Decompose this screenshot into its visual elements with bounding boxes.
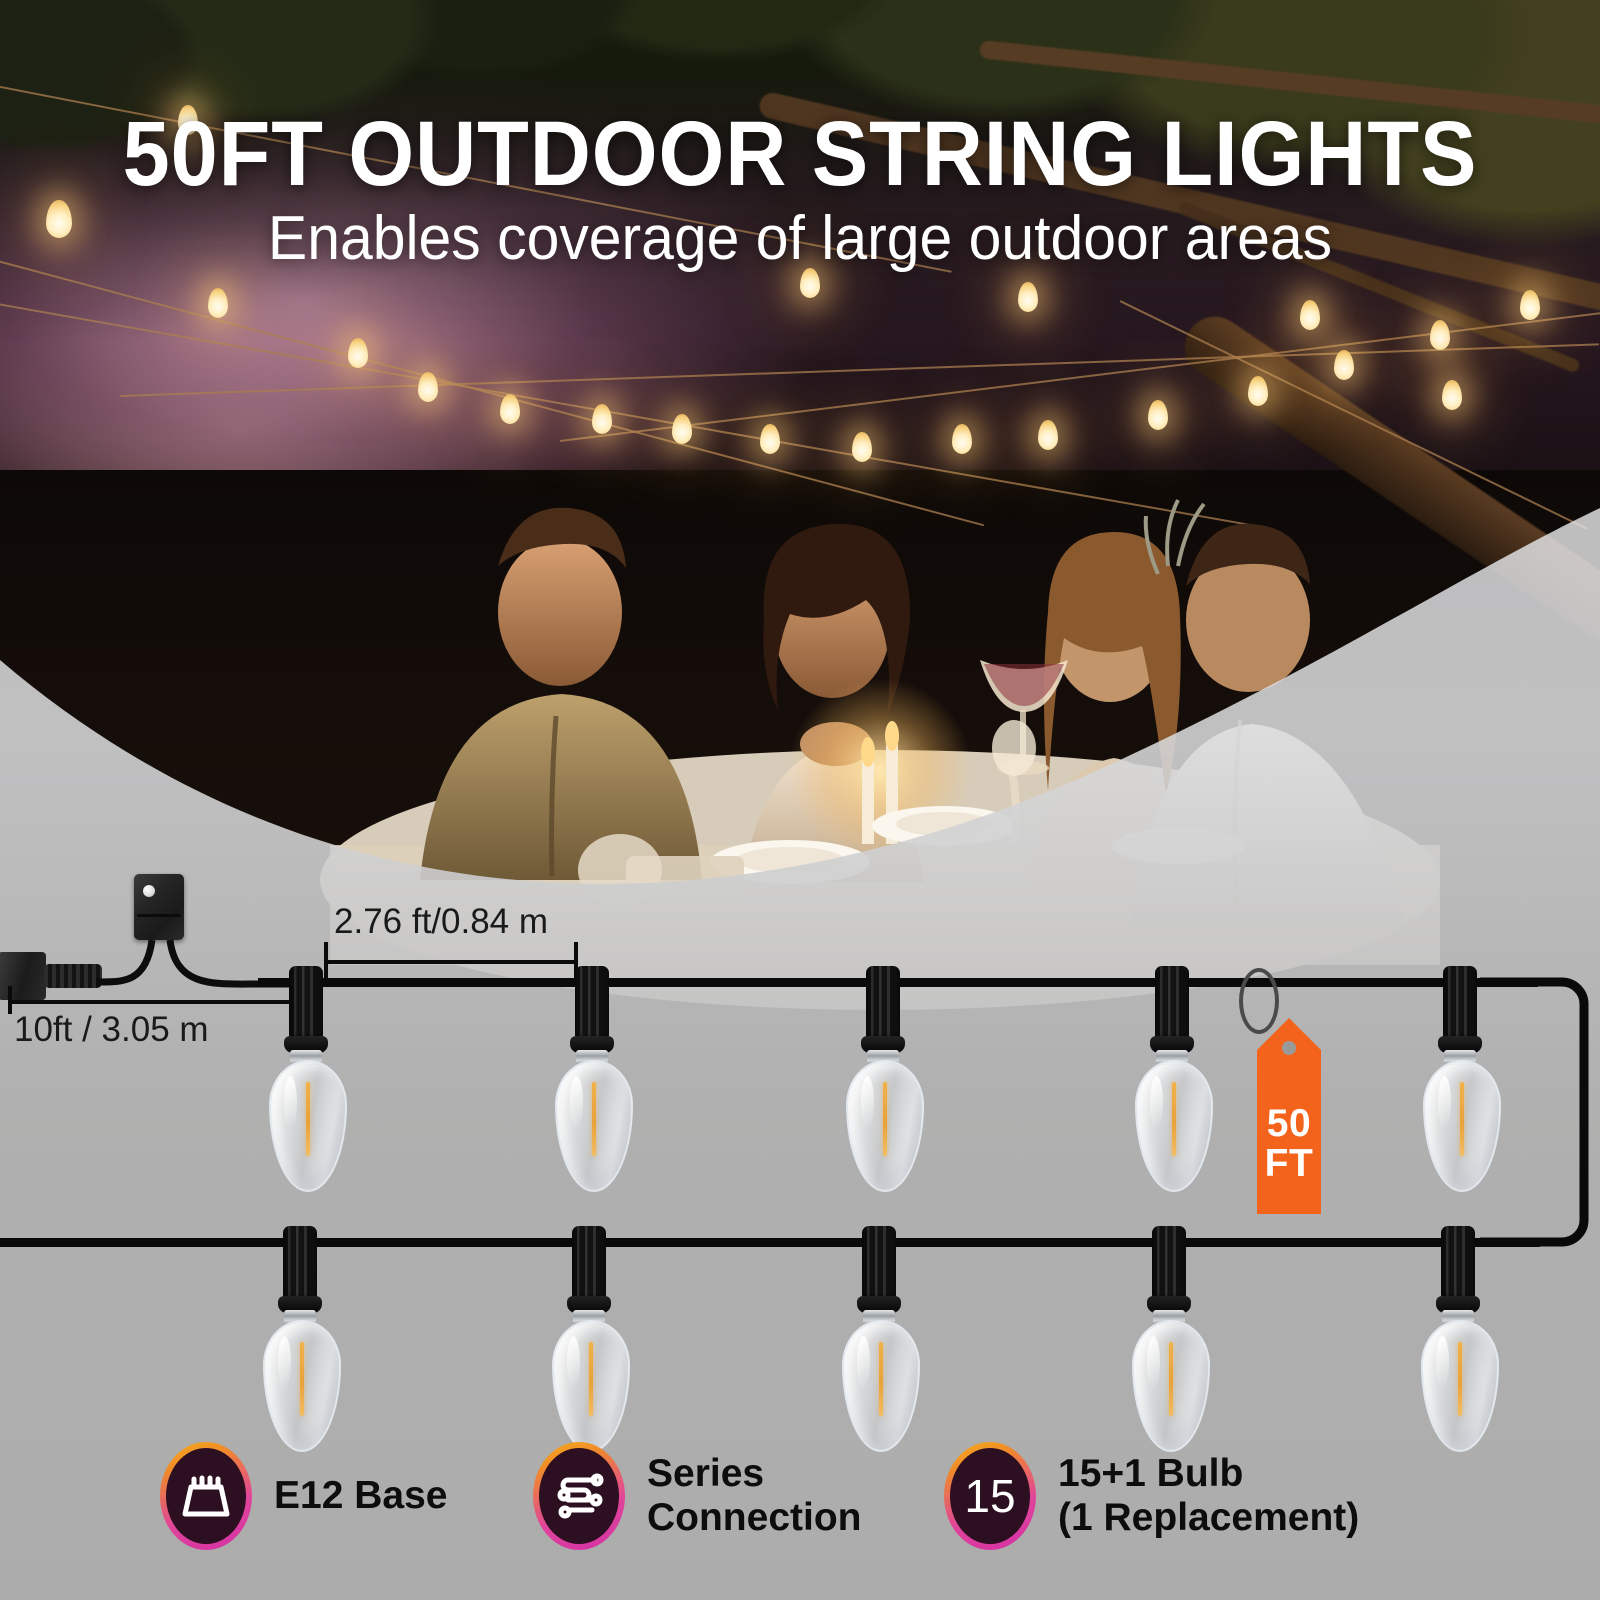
spacing-dimension-tick-left — [324, 942, 328, 978]
bulb-glass — [1135, 1060, 1213, 1192]
bulb-glass — [1423, 1060, 1501, 1192]
feature-series-connection[interactable]: Series Connection — [533, 1442, 861, 1550]
feature-label: 15+1 Bulb (1 Replacement) — [1058, 1452, 1359, 1539]
badge-ring — [160, 1442, 252, 1550]
badge-ring — [533, 1442, 625, 1550]
strand-return-bend — [0, 0, 1600, 1600]
tag-line-1: 50 — [1267, 1102, 1311, 1145]
lead-dimension-tick-right — [290, 986, 294, 1014]
feature-bulb-count[interactable]: 15 15+1 Bulb (1 Replacement) — [944, 1442, 1359, 1550]
power-plug — [0, 952, 46, 1000]
lead-dimension-label: 10ft / 3.05 m — [14, 1010, 209, 1050]
bulb-socket — [866, 966, 900, 1040]
bulb-socket — [1155, 966, 1189, 1040]
feature-label: E12 Base — [274, 1474, 447, 1518]
feature-badges: E12 Base — [0, 1420, 1600, 1600]
lead-dimension-tick-left — [8, 986, 12, 1014]
cable-connector — [44, 964, 102, 988]
badge-ring: 15 — [944, 1442, 1036, 1550]
bottom-strand-wire — [0, 1238, 1540, 1247]
bulb-glass — [846, 1060, 924, 1192]
bulb-socket — [1152, 1226, 1186, 1300]
adapter-seam — [137, 914, 181, 917]
bulb-count-value: 15 — [964, 1469, 1015, 1523]
tag-text: 50 FT — [1255, 1016, 1323, 1184]
bulb-glass — [269, 1060, 347, 1192]
tag-line-2: FT — [1265, 1142, 1314, 1185]
bulb-socket — [1443, 966, 1477, 1040]
power-adapter-box — [134, 874, 184, 940]
product-diagram: 2.76 ft/0.84 m 10ft / 3.05 m 50 FT — [0, 0, 1600, 1600]
feature-label: Series Connection — [647, 1452, 861, 1539]
lead-dimension-line — [8, 1000, 294, 1004]
bulb-count-icon: 15 — [950, 1448, 1030, 1544]
spacing-dimension-label: 2.76 ft/0.84 m — [334, 902, 548, 942]
adapter-cables — [0, 0, 1600, 1600]
bulb-socket — [283, 1226, 317, 1300]
bulb-socket — [572, 1226, 606, 1300]
spacing-dimension-tick-right — [574, 942, 578, 978]
bulb-glass — [555, 1060, 633, 1192]
spacing-dimension-line — [324, 960, 578, 964]
feature-e12-base[interactable]: E12 Base — [160, 1442, 447, 1550]
bulb-socket — [289, 966, 323, 1040]
bulb-socket — [575, 966, 609, 1040]
infographic-root: 50FT OUTDOOR STRING LIGHTS Enables cover… — [0, 0, 1600, 1600]
bulb-socket — [862, 1226, 896, 1300]
series-circuit-icon — [539, 1448, 619, 1544]
bulb-socket — [1441, 1226, 1475, 1300]
e12-socket-icon — [166, 1448, 246, 1544]
adapter-indicator-light — [143, 885, 155, 897]
